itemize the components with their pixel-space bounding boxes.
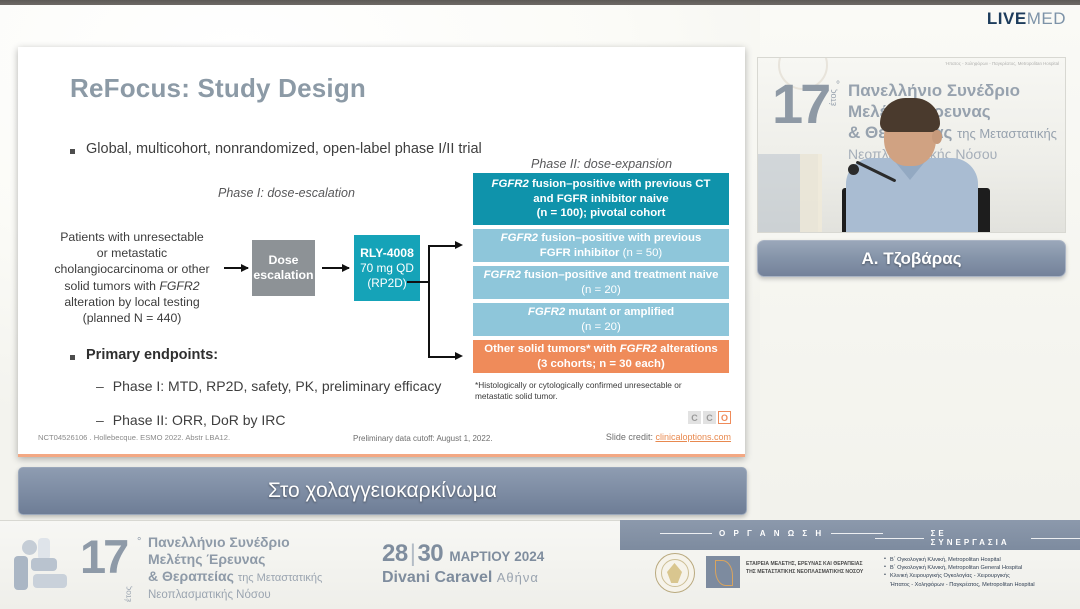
bullet-primary-endpoints: Primary endpoints: <box>70 347 218 363</box>
footer-conference-title: Πανελλήνιο Συνέδριο Μελέτης Έρευνας & Θε… <box>148 534 322 604</box>
bullet-global-trial: Global, multicohort, nonrandomized, open… <box>70 141 482 157</box>
bullet-square-icon <box>70 149 75 154</box>
cco-logo-c2: C <box>703 411 716 424</box>
livemed-logo: LIVEMED <box>987 9 1066 29</box>
footer-venue-line: Divani Caravel Αθήνα <box>382 569 544 587</box>
rly-box-line-1: RLY-4008 <box>360 246 414 260</box>
footer-city: Αθήνα <box>497 570 539 585</box>
footer-venue: Divani Caravel <box>382 569 492 586</box>
cco-logo: C C O <box>688 411 731 424</box>
top-edge <box>0 0 1080 5</box>
bullet-primary-endpoints-text: Primary endpoints: <box>86 347 218 363</box>
footer-date-to: 30 <box>417 540 443 567</box>
cohort2-line2: FGFR inhibitor (n = 50) <box>540 247 662 259</box>
phase2-label: Phase II: dose-expansion <box>531 157 672 171</box>
bullet-global-trial-text: Global, multicohort, nonrandomized, open… <box>86 141 482 157</box>
speaker-hair <box>880 98 940 132</box>
dash-icon: – <box>96 412 104 428</box>
cohort-box-treatment-naive: FGFR2 fusion–positive and treatment naiv… <box>473 266 729 299</box>
patients-line-6: (planned N = 440) <box>83 311 182 325</box>
footer-date-from: 28 <box>382 540 408 567</box>
cohort-box-prior-fgfri: FGFR2 fusion–positive with previous FGFR… <box>473 229 729 262</box>
society-logo-line1: ΕΤΑΙΡΕΙΑ ΜΕΛΕΤΗΣ, ΕΡΕΥΝΑΣ ΚΑΙ ΘΕΡΑΠΕΙΑΣ <box>746 560 863 568</box>
footer-date-separator: | <box>410 540 416 567</box>
conference-emblem-icon <box>14 536 72 594</box>
seal-inner-shape <box>667 563 682 583</box>
presentation-slide[interactable]: ReFocus: Study Design Global, multicohor… <box>18 47 745 457</box>
speaker-name-badge: Α. Τζοβάρας <box>757 240 1066 277</box>
backdrop-number: 17 <box>772 76 828 132</box>
patients-line-3: cholangiocarcinoma or other <box>54 262 209 276</box>
connector-arrowhead-bottom <box>455 352 463 360</box>
clinicaloptions-link[interactable]: clinicaloptions.com <box>655 432 731 442</box>
connector-stem <box>407 281 430 283</box>
speaker-video[interactable]: Ήπατος - Χοληφόρων - Παγκρέατος, Metropo… <box>757 57 1066 233</box>
emblem-part-1 <box>22 540 37 555</box>
rule-left <box>660 533 712 534</box>
topic-caption-text: Στο χολαγγειοκαρκίνωμα <box>268 479 497 503</box>
cohort3-line1: fusion–positive and treatment naive <box>524 269 718 281</box>
cohort-box-mutant-amplified: FGFR2 mutant or amplified (n = 20) <box>473 303 729 336</box>
partner-item-continuation: Ήπατος - Χοληφόρων - Παγκρέατος, Metropo… <box>884 581 1035 589</box>
dose-box-line-1: Dose <box>268 253 298 267</box>
footer-dates-venue: 28|30 ΜΑΡΤΙΟΥ 2024 Divani Caravel Αθήνα <box>382 540 544 587</box>
cohort5-line1: Other solid tumors* with FGFR2 alteratio… <box>484 343 718 355</box>
backdrop-title-line1: Πανελλήνιο Συνέδριο <box>848 80 1057 101</box>
backdrop-title-line3b: της Μεταστατικής <box>957 126 1057 141</box>
rly-box-line-3: (RP2D) <box>367 276 406 290</box>
cohort1-line3: (n = 100); pivotal cohort <box>537 207 666 219</box>
rly-4008-box: RLY-4008 70 mg QD (RP2D) <box>354 235 420 301</box>
footer-conf-line2: Μελέτης Έρευνας <box>148 551 322 568</box>
topic-caption-bar: Στο χολαγγειοκαρκίνωμα <box>18 467 747 515</box>
speaker-ear <box>932 130 942 144</box>
dash-icon: – <box>96 378 104 394</box>
cco-logo-c1: C <box>688 411 701 424</box>
rule-right <box>1031 538 1080 539</box>
cohort1-line1: fusion–positive with previous CT <box>532 178 710 190</box>
cohort5-line2: (3 cohorts; n = 30 each) <box>537 358 665 370</box>
sub-bullet-phase2: – Phase II: ORR, DoR by IRC <box>96 412 286 428</box>
footer-conference-degree: ° <box>137 536 141 548</box>
connector-branch-top <box>428 245 455 247</box>
dose-escalation-box: Dose escalation <box>252 240 315 296</box>
slide-credit: Slide credit: clinicaloptions.com <box>606 432 731 442</box>
footer-conference-etos: έτος <box>123 586 133 602</box>
slide-data-cutoff: Preliminary data cutoff: August 1, 2022. <box>353 434 493 443</box>
partner-item: Β΄ Ογκολογική Κλινική, Metropolitan Hosp… <box>884 556 1035 564</box>
cohort-box-pivotal: FGFR2 fusion–positive with previous CT a… <box>473 173 729 225</box>
cco-logo-o: O <box>718 411 731 424</box>
footer-conference-number: 17 <box>80 533 126 580</box>
emblem-part-3 <box>31 558 57 571</box>
footer-conf-line4: Νεοπλασματικής Νόσου <box>148 587 322 604</box>
emblem-part-2 <box>14 556 28 590</box>
backdrop-etos: έτος <box>828 89 838 106</box>
cohort2-line1: fusion–positive with previous <box>541 232 701 244</box>
society-logo-text: ΕΤΑΙΡΕΙΑ ΜΕΛΕΤΗΣ, ΕΡΕΥΝΑΣ ΚΑΙ ΘΕΡΑΠΕΙΑΣ … <box>746 560 863 576</box>
rule-left <box>875 538 924 539</box>
organizer-seal-icon <box>655 553 695 593</box>
connector-branch-bottom <box>428 356 455 358</box>
slide-credit-label: Slide credit: <box>606 432 656 442</box>
screen: LIVEMED ReFocus: Study Design Global, mu… <box>0 0 1080 608</box>
footer-band-organizers-label: Ο Ρ Γ Α Ν Ω Σ Η <box>660 529 883 538</box>
connector-arrowhead-top <box>455 241 463 249</box>
cohort-box-other-solid-tumors: Other solid tumors* with FGFR2 alteratio… <box>473 340 729 373</box>
slide-title: ReFocus: Study Design <box>70 73 366 104</box>
footer-band-cooperation-label: ΣΕ ΣΥΝΕΡΓΑΣΙΑ <box>875 529 1080 547</box>
cohort1-line2: and FGFR inhibitor naive <box>533 193 668 205</box>
microphone-head <box>848 164 859 175</box>
slide-citation: NCT04526106 . Hollebecque. ESMO 2022. Ab… <box>38 433 230 442</box>
partner-list: Β΄ Ογκολογική Κλινική, Metropolitan Hosp… <box>884 556 1035 589</box>
livemed-logo-live: LIVE <box>987 9 1027 28</box>
emblem-part-5 <box>38 538 50 560</box>
footer-conf-line3b: της Μεταστατικής <box>238 572 322 584</box>
connector-vertical <box>428 245 430 358</box>
rly-box-line-2: 70 mg QD <box>360 261 414 275</box>
footer-conf-line3: & Θεραπείας της Μεταστατικής <box>148 568 322 587</box>
livemed-logo-med: MED <box>1027 9 1066 28</box>
slide-footnote: *Histologically or cytologically confirm… <box>475 380 720 402</box>
dose-box-line-2: escalation <box>253 268 313 282</box>
emblem-part-4 <box>33 574 67 588</box>
patients-line-5: alteration by local testing <box>64 295 199 309</box>
sub-bullet-phase1-text: Phase I: MTD, RP2D, safety, PK, prelimin… <box>113 378 442 394</box>
phase1-label: Phase I: dose-escalation <box>218 186 355 200</box>
footer-date-month: ΜΑΡΤΙΟΥ 2024 <box>449 549 544 564</box>
cohort4-line1: mutant or amplified <box>568 306 674 318</box>
bullet-square-icon <box>70 355 75 360</box>
sub-bullet-phase1: – Phase I: MTD, RP2D, safety, PK, prelim… <box>96 378 441 394</box>
society-logo-icon <box>706 556 740 588</box>
footer-conf-line1: Πανελλήνιο Συνέδριο <box>148 534 322 551</box>
backdrop-tiny-text: Ήπατος - Χοληφόρων - Παγκρέατος, Metropo… <box>945 61 1059 66</box>
patients-line-2: or metastatic <box>97 246 167 260</box>
footer-band-cooperation-text: ΣΕ ΣΥΝΕΡΓΑΣΙΑ <box>931 529 1025 547</box>
backdrop-bar-cream <box>800 154 822 232</box>
arrow-patients-to-dose <box>224 267 248 269</box>
partner-item: Β΄ Ογκολογική Κλινική, Metropolitan Gene… <box>884 564 1035 572</box>
partner-item: Κλινική Χειρουργικής Ογκολογίας - Χειρου… <box>884 572 1035 580</box>
sub-bullet-phase2-text: Phase II: ORR, DoR by IRC <box>113 412 286 428</box>
patients-line-4: solid tumors with FGFR2 <box>64 279 199 293</box>
speaker-name-text: Α. Τζοβάρας <box>862 249 962 269</box>
slide-accent-line <box>18 454 745 457</box>
footer-date-line: 28|30 ΜΑΡΤΙΟΥ 2024 <box>382 540 544 568</box>
cohort3-line2: (n = 20) <box>581 284 621 296</box>
patient-population-text: Patients with unresectable or metastatic… <box>32 229 232 326</box>
arrow-dose-to-rly <box>322 267 349 269</box>
footer-band-organizers-text: Ο Ρ Γ Α Ν Ω Σ Η <box>719 529 824 538</box>
cohort4-line2: (n = 20) <box>581 321 621 333</box>
patients-line-1: Patients with unresectable <box>60 230 204 244</box>
footer-conf-line3a: & Θεραπείας <box>148 568 238 584</box>
society-logo-line2: ΤΗΣ ΜΕΤΑΣΤΑΤΙΚΗΣ ΝΕΟΠΛΑΣΜΑΤΙΚΗΣ ΝΟΣΟΥ <box>746 568 863 576</box>
